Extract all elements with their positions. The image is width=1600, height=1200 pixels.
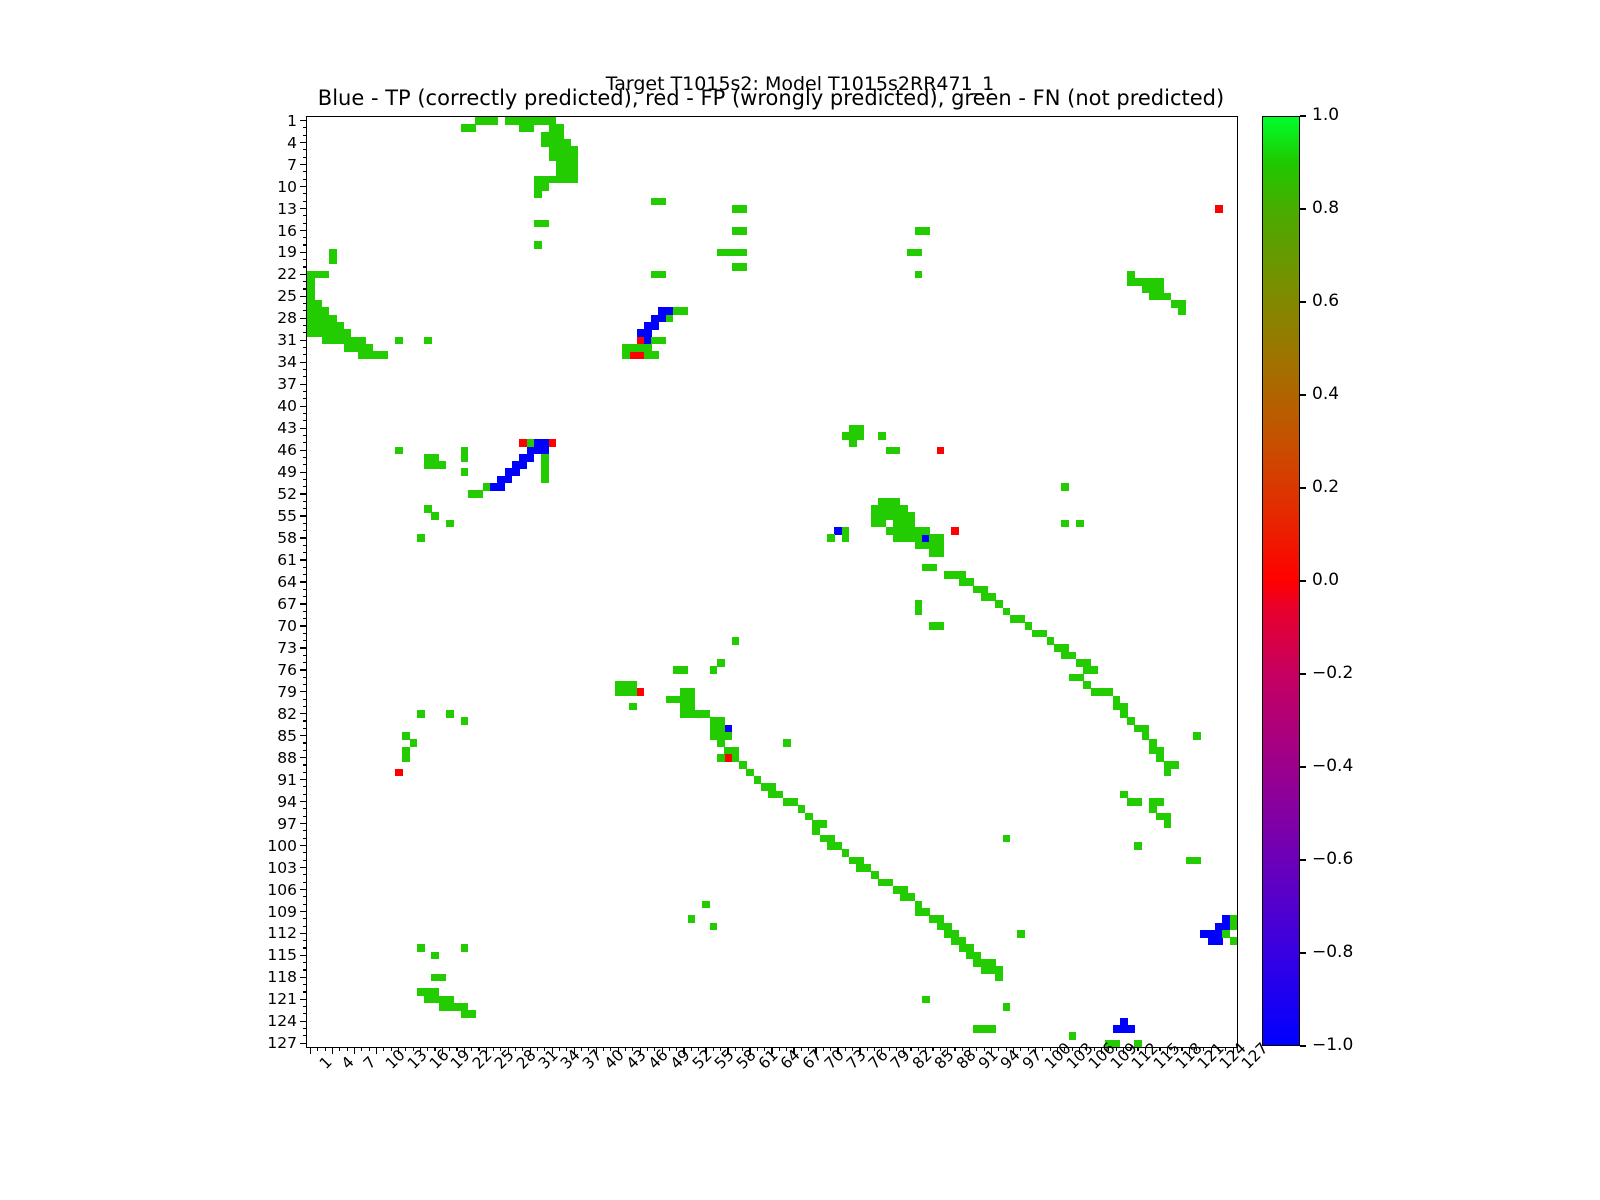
contact-cell-fn xyxy=(995,974,1003,982)
y-tick xyxy=(303,786,307,787)
y-tick xyxy=(300,933,307,934)
y-tick xyxy=(303,794,307,795)
x-tick xyxy=(530,1047,531,1054)
contact-cell-fn xyxy=(666,315,674,323)
y-tick xyxy=(303,135,307,136)
x-tick xyxy=(1101,1047,1102,1054)
contact-cell-fn xyxy=(915,249,923,257)
y-tick xyxy=(300,406,307,407)
x-tick xyxy=(493,1047,494,1051)
x-tick xyxy=(618,1047,619,1054)
contact-cell-tp xyxy=(519,461,527,469)
contact-cell-fn xyxy=(1156,798,1164,806)
y-tick xyxy=(303,413,307,414)
y-tick-label: 85 xyxy=(277,728,297,744)
contact-cell-fn xyxy=(380,351,388,359)
y-tick xyxy=(303,288,307,289)
y-tick xyxy=(303,179,307,180)
contact-cell-fn xyxy=(1003,1003,1011,1011)
contact-cell-fn xyxy=(1193,857,1201,865)
x-tick-label: 88 xyxy=(953,1060,966,1073)
x-tick xyxy=(676,1047,677,1051)
y-tick xyxy=(303,655,307,656)
x-tick xyxy=(640,1047,641,1054)
contact-cell-fn xyxy=(439,974,447,982)
contact-cell-fn xyxy=(483,483,491,491)
x-tick xyxy=(486,1047,487,1054)
y-tick-label: 61 xyxy=(277,552,297,568)
x-tick xyxy=(478,1047,479,1051)
contact-cell-tp xyxy=(512,468,520,476)
x-tick-label: 79 xyxy=(887,1060,900,1073)
y-tick-label: 13 xyxy=(277,201,297,217)
contact-cell-fn xyxy=(739,227,747,235)
x-tick-label: 109 xyxy=(1107,1060,1120,1073)
y-tick xyxy=(303,1006,307,1007)
contact-cell-fn xyxy=(680,666,688,674)
x-tick xyxy=(1203,1047,1204,1051)
y-tick xyxy=(300,999,307,1000)
x-tick xyxy=(1042,1047,1043,1051)
y-tick xyxy=(303,193,307,194)
y-tick xyxy=(303,896,307,897)
y-tick xyxy=(300,647,307,648)
y-tick xyxy=(303,376,307,377)
x-tick xyxy=(1130,1047,1131,1051)
x-tick xyxy=(398,1047,399,1054)
x-tick xyxy=(574,1047,575,1054)
y-tick-label: 67 xyxy=(277,596,297,612)
contact-cell-fn xyxy=(1061,520,1069,528)
x-tick xyxy=(464,1047,465,1054)
y-tick xyxy=(303,244,307,245)
contact-cell-fn xyxy=(732,637,740,645)
y-tick xyxy=(303,926,307,927)
x-tick xyxy=(1079,1047,1080,1054)
y-tick xyxy=(303,764,307,765)
x-tick xyxy=(852,1047,853,1051)
y-tick xyxy=(300,911,307,912)
y-tick xyxy=(303,479,307,480)
y-tick xyxy=(303,523,307,524)
y-tick xyxy=(300,1021,307,1022)
contact-cell-fn xyxy=(658,198,666,206)
x-tick-label: 91 xyxy=(975,1060,988,1073)
y-tick xyxy=(303,940,307,941)
x-tick xyxy=(537,1047,538,1051)
contact-cell-fn xyxy=(395,447,403,455)
y-tick xyxy=(303,1013,307,1014)
y-tick xyxy=(303,633,307,634)
x-tick xyxy=(332,1047,333,1054)
x-tick xyxy=(449,1047,450,1051)
contact-cell-fn xyxy=(651,351,659,359)
x-tick xyxy=(500,1047,501,1051)
y-tick xyxy=(303,860,307,861)
x-tick xyxy=(427,1047,428,1051)
y-tick-label: 106 xyxy=(267,882,297,898)
x-tick xyxy=(383,1047,384,1051)
x-tick xyxy=(698,1047,699,1051)
contact-cell-fn xyxy=(329,256,337,264)
y-tick xyxy=(303,706,307,707)
x-tick xyxy=(420,1047,421,1054)
y-tick xyxy=(303,259,307,260)
y-tick-label: 94 xyxy=(277,794,297,810)
x-tick xyxy=(413,1047,414,1051)
contact-cell-tp xyxy=(1215,937,1223,945)
x-tick xyxy=(1137,1047,1138,1051)
x-tick-label: 76 xyxy=(865,1060,878,1073)
contact-cell-fn xyxy=(417,710,425,718)
contact-cell-tp xyxy=(527,454,535,462)
y-tick xyxy=(300,691,307,692)
y-tick xyxy=(300,296,307,297)
contact-cell-fn xyxy=(937,622,945,630)
axes-title-legend: Blue - TP (correctly predicted), red - F… xyxy=(306,86,1236,110)
x-tick-label: 97 xyxy=(1019,1060,1032,1073)
y-tick xyxy=(303,947,307,948)
x-tick xyxy=(764,1047,765,1051)
y-tick xyxy=(300,252,307,253)
y-tick xyxy=(300,340,307,341)
contact-cell-fn xyxy=(658,271,666,279)
colorbar-tick xyxy=(1300,208,1306,209)
x-tick xyxy=(588,1047,589,1051)
contact-cell-fn xyxy=(827,534,835,542)
contact-map-cells xyxy=(307,117,1237,1047)
contact-cell-fn xyxy=(922,996,930,1004)
contact-cell-fn xyxy=(322,271,330,279)
y-tick-label: 40 xyxy=(277,398,297,414)
colorbar-tick xyxy=(1300,859,1306,860)
x-tick xyxy=(918,1047,919,1051)
x-tick xyxy=(354,1047,355,1054)
x-tick xyxy=(552,1047,553,1054)
x-tick xyxy=(940,1047,941,1051)
contact-cell-tp xyxy=(505,476,513,484)
y-tick xyxy=(303,530,307,531)
y-tick xyxy=(303,742,307,743)
colorbar-tick-label: 0.2 xyxy=(1312,479,1339,496)
contact-map-plot-area: 1144771010131316161919222225252828313134… xyxy=(306,116,1238,1048)
y-tick xyxy=(303,750,307,751)
y-tick xyxy=(300,735,307,736)
y-tick xyxy=(303,281,307,282)
x-tick-label: 100 xyxy=(1041,1060,1054,1073)
x-tick xyxy=(845,1047,846,1051)
contact-cell-fn xyxy=(842,534,850,542)
contact-cell-fn xyxy=(820,820,828,828)
y-tick-label: 79 xyxy=(277,684,297,700)
y-tick-label: 37 xyxy=(277,376,297,392)
colorbar-tick-label: 1.0 xyxy=(1312,107,1339,124)
colorbar-tick-label: 0.8 xyxy=(1312,200,1339,217)
contact-cell-fn xyxy=(417,534,425,542)
contact-cell-fn xyxy=(1061,483,1069,491)
y-tick xyxy=(303,699,307,700)
contact-cell-fn xyxy=(622,351,630,359)
y-tick xyxy=(300,955,307,956)
y-tick xyxy=(303,816,307,817)
x-tick xyxy=(632,1047,633,1051)
contact-cell-fp xyxy=(637,688,645,696)
y-tick-label: 52 xyxy=(277,486,297,502)
x-tick xyxy=(867,1047,868,1051)
contact-cell-fn xyxy=(424,337,432,345)
y-tick-label: 28 xyxy=(277,310,297,326)
x-tick xyxy=(317,1047,318,1051)
x-tick xyxy=(1035,1047,1036,1054)
x-tick xyxy=(713,1047,714,1051)
x-tick xyxy=(757,1047,758,1051)
y-tick xyxy=(303,215,307,216)
x-tick-label: 40 xyxy=(601,1060,614,1073)
contact-cell-fn xyxy=(468,124,476,132)
y-tick xyxy=(303,127,307,128)
x-tick xyxy=(903,1047,904,1054)
x-tick xyxy=(925,1047,926,1054)
contact-cell-fn xyxy=(468,1010,476,1018)
contact-cell-fn xyxy=(1178,307,1186,315)
x-tick xyxy=(749,1047,750,1054)
contact-cell-fn xyxy=(739,205,747,213)
y-tick xyxy=(303,574,307,575)
x-tick xyxy=(727,1047,728,1054)
y-tick xyxy=(300,867,307,868)
colorbar-tick-label: −0.8 xyxy=(1312,944,1353,961)
y-tick xyxy=(303,662,307,663)
x-tick xyxy=(1218,1047,1219,1051)
y-tick xyxy=(303,420,307,421)
x-tick xyxy=(947,1047,948,1054)
contact-cell-fn xyxy=(461,717,469,725)
y-tick xyxy=(300,472,307,473)
x-tick-label: 118 xyxy=(1172,1060,1185,1073)
contact-cell-fn xyxy=(541,476,549,484)
y-tick xyxy=(303,684,307,685)
y-tick xyxy=(303,369,307,370)
x-tick xyxy=(544,1047,545,1051)
x-tick xyxy=(647,1047,648,1051)
y-tick xyxy=(303,223,307,224)
y-tick xyxy=(303,969,307,970)
x-tick xyxy=(471,1047,472,1051)
contact-cell-fn xyxy=(893,447,901,455)
x-tick xyxy=(566,1047,567,1051)
colorbar-tick-label: 0.4 xyxy=(1312,386,1339,403)
contact-cell-fn xyxy=(1091,666,1099,674)
contact-cell-fn xyxy=(856,432,864,440)
y-tick xyxy=(303,303,307,304)
contact-cell-fp xyxy=(549,439,557,447)
x-tick xyxy=(434,1047,435,1051)
x-tick xyxy=(859,1047,860,1054)
y-tick xyxy=(303,398,307,399)
contact-cell-fn xyxy=(629,703,637,711)
y-tick xyxy=(300,669,307,670)
x-tick xyxy=(1225,1047,1226,1051)
x-tick xyxy=(881,1047,882,1054)
x-tick xyxy=(742,1047,743,1051)
y-tick xyxy=(300,384,307,385)
x-tick xyxy=(691,1047,692,1051)
x-tick-label: 13 xyxy=(404,1060,417,1073)
x-tick xyxy=(515,1047,516,1051)
y-tick-label: 19 xyxy=(277,244,297,260)
contact-cell-fn xyxy=(783,739,791,747)
x-tick xyxy=(801,1047,802,1051)
x-tick xyxy=(779,1047,780,1051)
x-tick xyxy=(969,1047,970,1054)
y-tick xyxy=(303,611,307,612)
y-tick-label: 22 xyxy=(277,266,297,282)
x-tick xyxy=(735,1047,736,1051)
x-tick xyxy=(1233,1047,1234,1054)
contact-cell-fn xyxy=(717,659,725,667)
colorbar-gradient xyxy=(1262,116,1300,1046)
contact-cell-fn xyxy=(629,688,637,696)
x-tick xyxy=(1174,1047,1175,1051)
colorbar-tick xyxy=(1300,301,1306,302)
y-tick-label: 112 xyxy=(267,925,297,941)
contact-cell-fp xyxy=(395,769,403,777)
x-tick xyxy=(310,1047,311,1054)
y-tick xyxy=(300,230,307,231)
x-tick xyxy=(347,1047,348,1051)
x-tick xyxy=(1020,1047,1021,1051)
y-tick xyxy=(303,904,307,905)
y-tick-label: 25 xyxy=(277,288,297,304)
x-tick-label: 34 xyxy=(557,1060,570,1073)
contact-cell-fn xyxy=(915,608,923,616)
x-tick xyxy=(1152,1047,1153,1051)
y-tick xyxy=(300,428,307,429)
y-tick xyxy=(303,354,307,355)
y-tick xyxy=(303,332,307,333)
y-tick xyxy=(303,501,307,502)
contact-cell-fn xyxy=(1017,930,1025,938)
colorbar-tick xyxy=(1300,952,1306,953)
contact-cell-fn xyxy=(710,923,718,931)
y-tick-label: 103 xyxy=(267,860,297,876)
x-tick-label: 31 xyxy=(535,1060,548,1073)
y-tick xyxy=(303,830,307,831)
contact-cell-fn xyxy=(717,754,725,762)
x-tick xyxy=(1167,1047,1168,1054)
x-tick xyxy=(830,1047,831,1051)
contact-cell-fn xyxy=(915,271,923,279)
y-tick-label: 16 xyxy=(277,223,297,239)
colorbar-tick xyxy=(1300,1045,1306,1046)
x-tick xyxy=(456,1047,457,1051)
x-tick-label: 73 xyxy=(843,1060,856,1073)
x-tick xyxy=(1211,1047,1212,1054)
contact-cell-fn xyxy=(461,944,469,952)
contact-cell-fn xyxy=(410,739,418,747)
contact-cell-fn xyxy=(937,549,945,557)
y-tick xyxy=(303,874,307,875)
y-tick xyxy=(303,720,307,721)
x-tick-label: 46 xyxy=(645,1060,658,1073)
y-tick xyxy=(303,545,307,546)
contact-cell-fn xyxy=(1076,520,1084,528)
y-tick-label: 46 xyxy=(277,442,297,458)
y-tick xyxy=(303,567,307,568)
y-tick xyxy=(303,1035,307,1036)
y-tick xyxy=(300,603,307,604)
contact-cell-fn xyxy=(431,952,439,960)
x-tick xyxy=(962,1047,963,1051)
contact-cell-fn xyxy=(710,666,718,674)
colorbar-tick xyxy=(1300,487,1306,488)
x-tick-label: 124 xyxy=(1216,1060,1229,1073)
colorbar: 1.00.80.60.40.20.0−0.2−0.4−0.6−0.8−1.0 xyxy=(1262,116,1300,1046)
contact-cell-fn xyxy=(1230,923,1238,931)
x-tick xyxy=(793,1047,794,1054)
y-tick xyxy=(303,918,307,919)
x-tick xyxy=(808,1047,809,1051)
contact-cell-fp xyxy=(1215,205,1223,213)
colorbar-tick-label: −0.6 xyxy=(1312,851,1353,868)
y-tick xyxy=(300,318,307,319)
x-tick-label: 82 xyxy=(909,1060,922,1073)
y-tick xyxy=(300,1043,307,1044)
contact-cell-fn xyxy=(849,439,857,447)
x-tick xyxy=(1181,1047,1182,1051)
y-tick xyxy=(303,157,307,158)
contact-cell-fn xyxy=(395,337,403,345)
x-tick xyxy=(610,1047,611,1051)
contact-cell-fn xyxy=(541,183,549,191)
y-tick-label: 118 xyxy=(267,969,297,985)
x-tick xyxy=(1064,1047,1065,1051)
contact-cell-tp xyxy=(651,322,659,330)
x-tick-label: 16 xyxy=(426,1060,439,1073)
y-tick xyxy=(300,208,307,209)
y-tick xyxy=(303,237,307,238)
y-tick-label: 43 xyxy=(277,420,297,436)
y-tick xyxy=(300,120,307,121)
colorbar-tick-label: 0.6 xyxy=(1312,293,1339,310)
y-tick-label: 1 xyxy=(287,113,297,129)
y-tick xyxy=(303,589,307,590)
contact-cell-fn xyxy=(431,512,439,520)
colorbar-tick-label: 0.0 xyxy=(1312,572,1339,589)
contact-cell-fn xyxy=(1134,798,1142,806)
x-tick xyxy=(771,1047,772,1054)
x-tick xyxy=(1123,1047,1124,1054)
x-tick-label: 94 xyxy=(997,1060,1010,1073)
y-tick xyxy=(303,442,307,443)
x-tick xyxy=(1028,1047,1029,1051)
x-tick-label: 121 xyxy=(1194,1060,1207,1073)
y-tick-label: 55 xyxy=(277,508,297,524)
colorbar-tick-label: −0.2 xyxy=(1312,665,1353,682)
y-tick-label: 127 xyxy=(267,1035,297,1051)
y-tick xyxy=(303,457,307,458)
x-tick xyxy=(1159,1047,1160,1051)
x-tick xyxy=(1108,1047,1109,1051)
y-tick xyxy=(300,801,307,802)
y-tick xyxy=(300,537,307,538)
x-tick xyxy=(1094,1047,1095,1051)
colorbar-tick xyxy=(1300,673,1306,674)
contact-cell-fn xyxy=(878,432,886,440)
x-tick xyxy=(1086,1047,1087,1051)
contact-cell-fn xyxy=(461,468,469,476)
contact-cell-fn xyxy=(541,220,549,228)
